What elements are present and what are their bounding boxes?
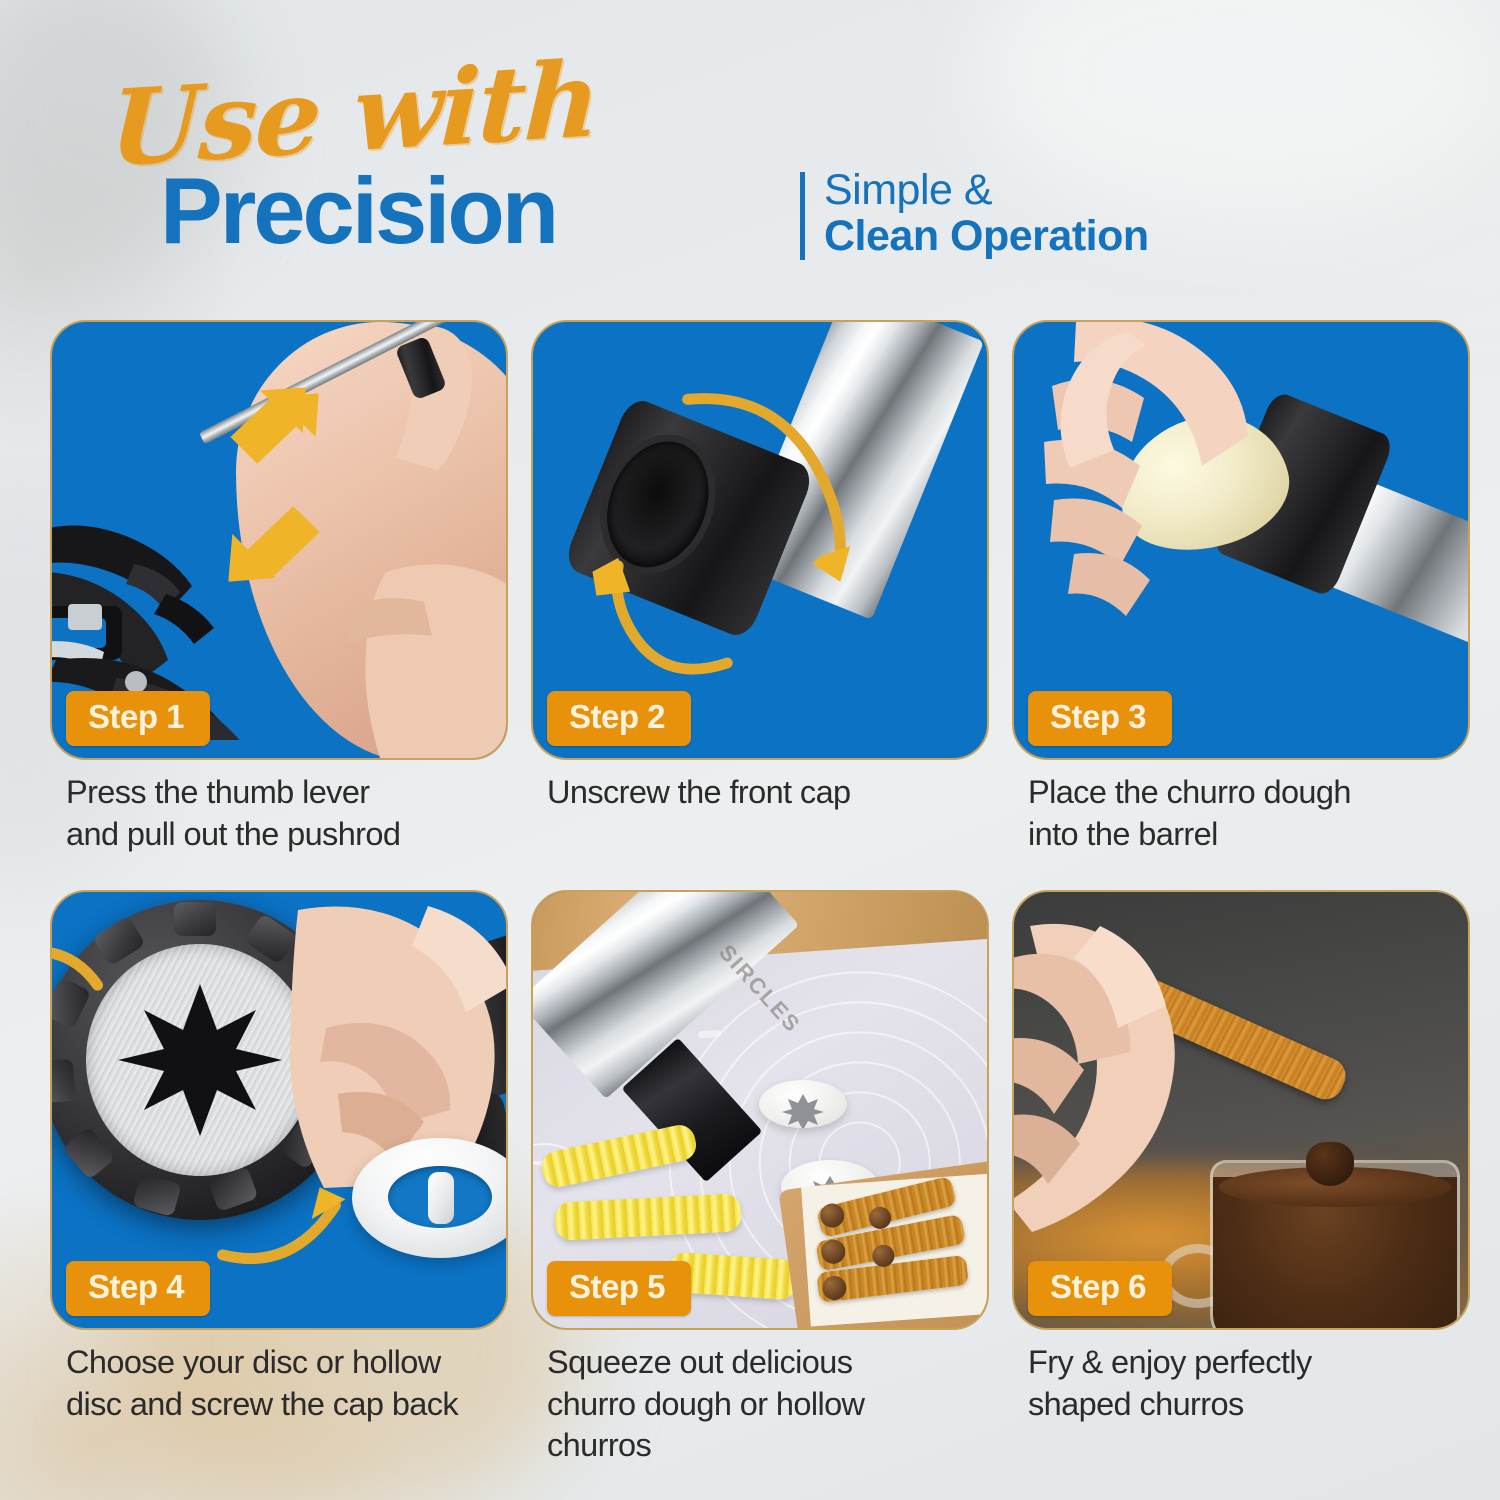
step-panel-4: Step 4 bbox=[50, 890, 508, 1330]
step-panel-6: Step 6 bbox=[1012, 890, 1470, 1330]
step-badge: Step 4 bbox=[66, 1261, 210, 1316]
step-panel-3: Step 3 bbox=[1012, 320, 1470, 760]
step-badge: Step 1 bbox=[66, 691, 210, 746]
infographic-page: Use with Precision Simple & Clean Operat… bbox=[0, 0, 1500, 1500]
step-caption: Place the churro dough into the barrel bbox=[1028, 772, 1478, 855]
step-cell-3: Step 3 Place the churro dough into the b… bbox=[1012, 320, 1470, 760]
step-badge: Step 2 bbox=[547, 691, 691, 746]
header-divider bbox=[800, 172, 805, 260]
step-cell-4: Step 4 Choose your disc or hollow disc a… bbox=[50, 890, 508, 1330]
step-panel-5: SIRCLES bbox=[531, 890, 989, 1330]
step-panel-2: Step 2 bbox=[531, 320, 989, 760]
header-subtitle: Simple & Clean Operation bbox=[824, 168, 1149, 259]
chocolate-drip bbox=[1306, 1142, 1354, 1186]
step-panel-1: Step 1 bbox=[50, 320, 508, 760]
step-caption: Unscrew the front cap bbox=[547, 772, 997, 814]
subtitle-line-2: Clean Operation bbox=[824, 214, 1149, 260]
steps-grid: Step 1 Press the thumb lever and pull ou… bbox=[50, 320, 1470, 1330]
step-cell-5: SIRCLES bbox=[531, 890, 989, 1330]
header: Use with Precision Simple & Clean Operat… bbox=[0, 0, 1500, 300]
page-title: Precision bbox=[160, 157, 556, 265]
step-badge: Step 3 bbox=[1028, 691, 1172, 746]
hand-illustration-icon bbox=[1040, 320, 1340, 652]
step-caption: Squeeze out delicious churro dough or ho… bbox=[547, 1342, 997, 1467]
hand-illustration-icon bbox=[1012, 920, 1220, 1240]
disc-star-hole-icon bbox=[759, 1080, 847, 1128]
step-badge: Step 6 bbox=[1028, 1261, 1172, 1316]
step-cell-1: Step 1 Press the thumb lever and pull ou… bbox=[50, 320, 508, 760]
step-caption: Fry & enjoy perfectly shaped churros bbox=[1028, 1342, 1478, 1425]
step-cell-6: Step 6 Fry & enjoy perfectly shaped chur… bbox=[1012, 890, 1470, 1330]
step-caption: Press the thumb lever and pull out the p… bbox=[66, 772, 516, 855]
step-cell-2: Step 2 Unscrew the front cap bbox=[531, 320, 989, 760]
spare-disc-1 bbox=[759, 1080, 847, 1128]
subtitle-line-1: Simple & bbox=[824, 168, 1149, 214]
step-badge: Step 5 bbox=[547, 1261, 691, 1316]
step-caption: Choose your disc or hollow disc and scre… bbox=[66, 1342, 516, 1425]
